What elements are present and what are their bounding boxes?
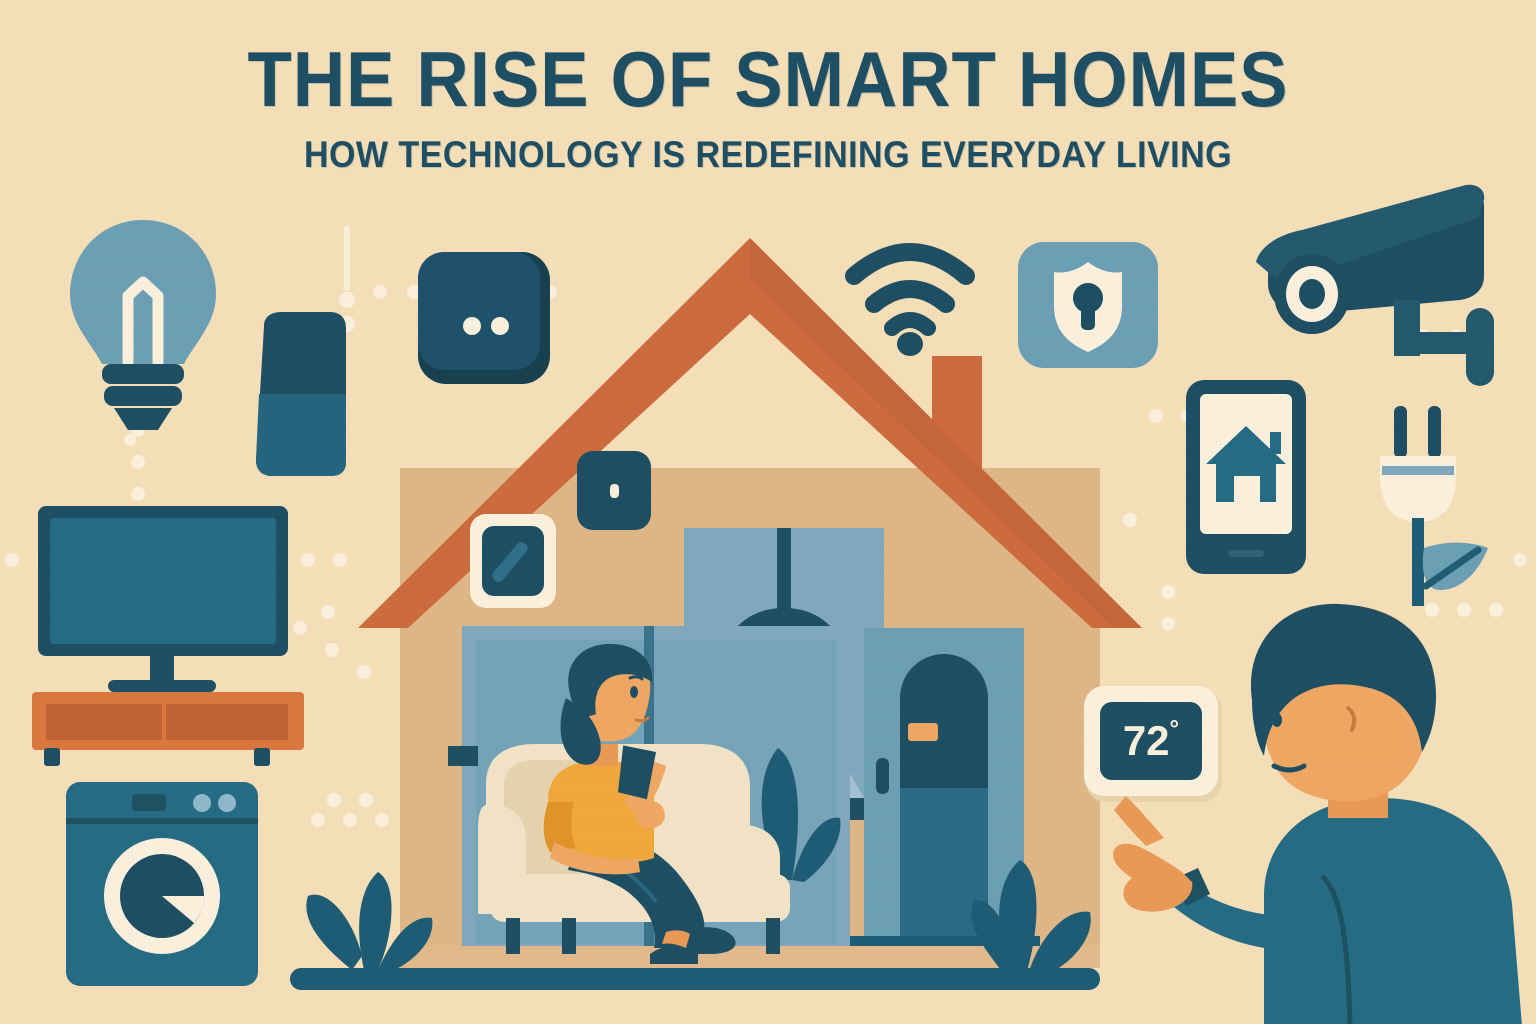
plant-right bbox=[944, 812, 1124, 977]
page-subtitle: HOW TECHNOLOGY IS REDEFINING EVERYDAY LI… bbox=[61, 134, 1474, 176]
man-adjusting-thermostat bbox=[1112, 586, 1536, 1024]
plant-left bbox=[286, 838, 466, 973]
page-title: THE RISE OF SMART HOMES bbox=[54, 40, 1482, 118]
smart-tv bbox=[32, 500, 312, 760]
security-shield-lock-icon[interactable] bbox=[1014, 240, 1162, 370]
illustration-canvas: 72 ° THE RISE OF SMART HOMES HO bbox=[0, 0, 1536, 1024]
smart-light-bulb bbox=[58, 212, 228, 432]
smart-washing-machine bbox=[62, 778, 262, 990]
security-camera bbox=[1246, 172, 1516, 387]
wifi-icon bbox=[840, 240, 980, 350]
motion-sensor[interactable] bbox=[574, 448, 654, 533]
woman-with-phone bbox=[450, 636, 850, 978]
smartphone-home-app[interactable] bbox=[1184, 378, 1308, 576]
smart-speaker[interactable] bbox=[250, 310, 350, 480]
eco-smart-plug bbox=[1356, 398, 1498, 608]
smart-switch-panel[interactable] bbox=[414, 248, 554, 388]
dimmer-switch[interactable] bbox=[468, 512, 558, 610]
